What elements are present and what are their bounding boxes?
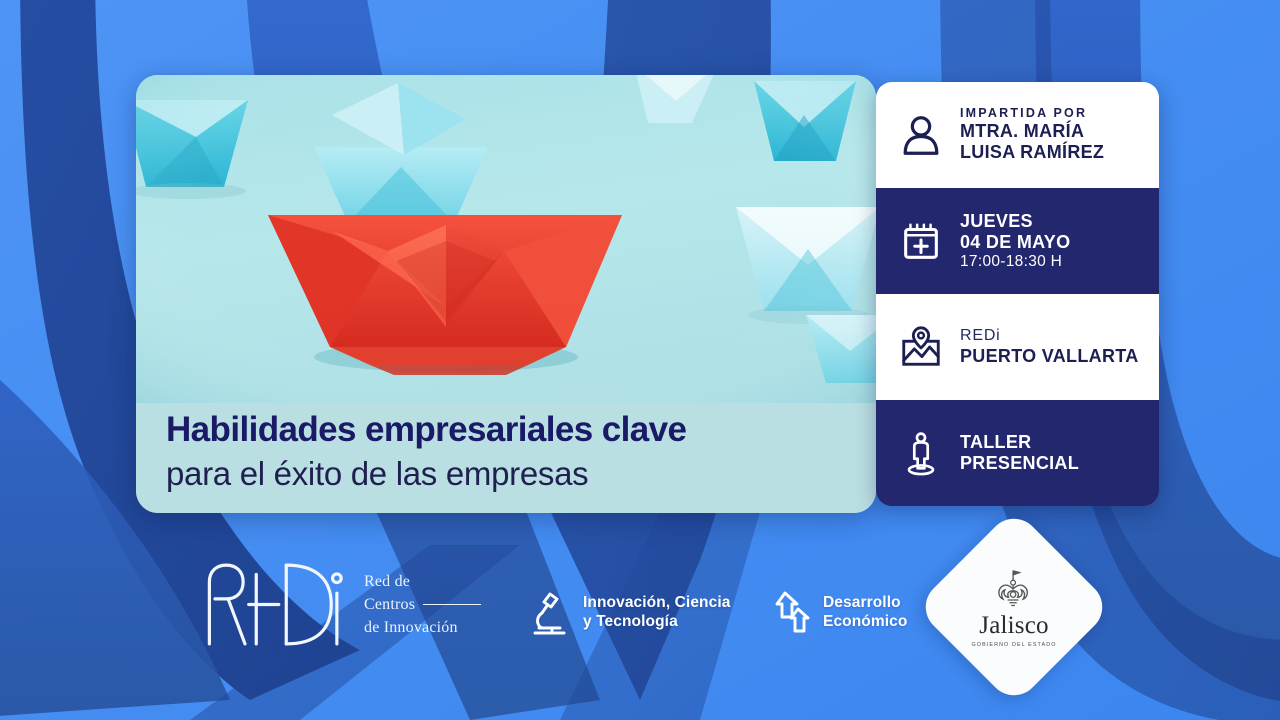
date-time: 17:00-18:30 H <box>960 253 1070 271</box>
ict-line-2: y Tecnología <box>583 613 730 632</box>
standing-person-icon <box>898 430 944 476</box>
ict-line-1: Innovación, Ciencia <box>583 594 730 613</box>
person-icon <box>898 112 944 158</box>
speaker-name-line2: LUISA RAMÍREZ <box>960 142 1104 163</box>
location-city: PUERTO VALLARTA <box>960 346 1139 367</box>
development-text: Desarrollo Económico <box>823 594 907 632</box>
calendar-icon <box>898 218 944 264</box>
redi-wordmark-text: Red de Centros de Innovación <box>364 570 481 640</box>
jalisco-subtitle: GOBIERNO DEL ESTADO <box>972 642 1057 648</box>
map-pin-icon <box>898 324 944 370</box>
development-logo-block: Desarrollo Económico <box>772 589 907 637</box>
microscope-icon <box>530 589 570 637</box>
info-row-modality: TALLER PRESENCIAL <box>876 400 1159 506</box>
date-text: JUEVES 04 DE MAYO 17:00-18:30 H <box>960 211 1070 272</box>
paper-boats-illustration <box>136 75 876 415</box>
redi-rule <box>423 604 481 606</box>
info-row-date: JUEVES 04 DE MAYO 17:00-18:30 H <box>876 188 1159 294</box>
ict-text: Innovación, Ciencia y Tecnología <box>583 594 730 632</box>
event-card: Habilidades empresariales clave para el … <box>136 75 876 513</box>
ict-logo-block: Innovación, Ciencia y Tecnología <box>530 589 730 637</box>
info-row-location: REDi PUERTO VALLARTA <box>876 294 1159 400</box>
location-center: REDi <box>960 327 1139 346</box>
page-title: Habilidades empresariales clave <box>166 411 876 450</box>
redi-logo-block: Red de Centros de Innovación <box>200 557 481 652</box>
jalisco-logo-block: Jalisco GOBIERNO DEL ESTADO <box>944 537 1084 677</box>
event-photo <box>136 75 876 415</box>
date-day-month: 04 DE MAYO <box>960 232 1070 253</box>
footer-logos: Red de Centros de Innovación Innovación,… <box>0 545 1280 720</box>
location-text: REDi PUERTO VALLARTA <box>960 327 1139 367</box>
modality-line1: TALLER <box>960 432 1079 453</box>
development-line-1: Desarrollo <box>823 594 907 613</box>
event-title-band: Habilidades empresariales clave para el … <box>136 403 876 513</box>
speaker-name-line1: MTRA. MARÍA <box>960 121 1104 142</box>
event-info-panel: IMPARTIDA POR MTRA. MARÍA LUISA RAMÍREZ … <box>876 82 1159 506</box>
jalisco-crest-icon <box>992 567 1036 611</box>
redi-line-3: de Innovación <box>364 616 481 639</box>
date-weekday: JUEVES <box>960 211 1070 232</box>
redi-line-2: Centros <box>364 593 415 616</box>
info-row-speaker: IMPARTIDA POR MTRA. MARÍA LUISA RAMÍREZ <box>876 82 1159 188</box>
speaker-label: IMPARTIDA POR <box>960 106 1104 121</box>
jalisco-name: Jalisco <box>979 613 1048 638</box>
redi-line-1: Red de <box>364 570 481 593</box>
redi-logo-icon <box>200 557 350 652</box>
modality-text: TALLER PRESENCIAL <box>960 432 1079 474</box>
up-arrows-icon <box>772 589 812 637</box>
speaker-text: IMPARTIDA POR MTRA. MARÍA LUISA RAMÍREZ <box>960 106 1104 163</box>
modality-line2: PRESENCIAL <box>960 453 1079 474</box>
development-line-2: Económico <box>823 613 907 632</box>
page-subtitle: para el éxito de las empresas <box>166 454 876 494</box>
